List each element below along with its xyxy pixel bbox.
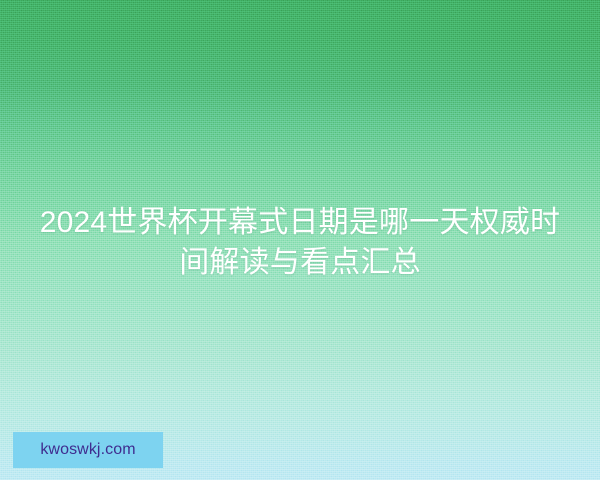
watermark-site-label: kwoswkj.com [40, 442, 135, 458]
headline-title: 2024世界杯开幕式日期是哪一天权威时间解读与看点汇总 [0, 203, 600, 283]
cover-image-canvas: 2024世界杯开幕式日期是哪一天权威时间解读与看点汇总 kwoswkj.com [0, 0, 600, 480]
watermark-badge: kwoswkj.com [13, 432, 163, 468]
